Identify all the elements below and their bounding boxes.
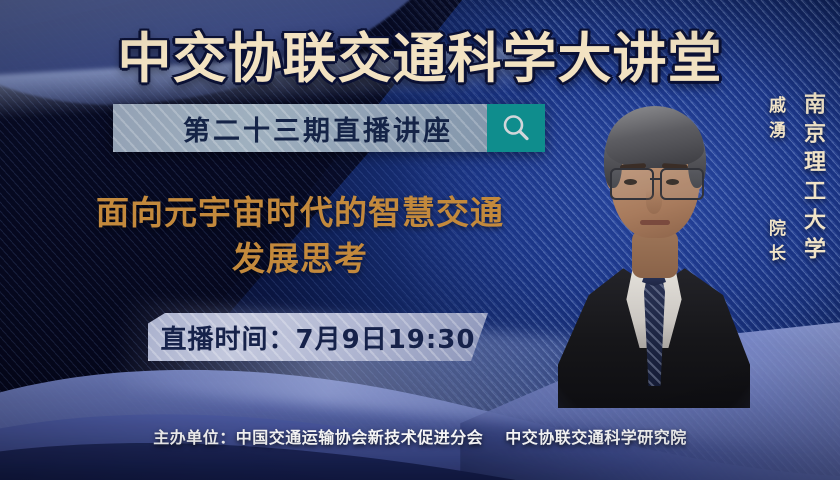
speaker-title: 院长 (765, 219, 785, 269)
main-title: 中交协联交通科学大讲堂 (0, 14, 840, 93)
footer-organizer-1: 中国交通运输协会新技术促进分会 (236, 428, 484, 447)
speaker-organization: 南京理工大学 (796, 92, 828, 266)
portrait-nose (646, 190, 662, 214)
session-banner: 第二十三期直播讲座 (113, 104, 545, 152)
portrait-mouth (640, 220, 670, 225)
search-icon-container[interactable] (487, 104, 545, 152)
speaker-name: 戚湧 (765, 96, 785, 146)
portrait-glasses-bridge (650, 178, 660, 180)
broadcast-time-text: 直播时间：7月9日19:30 (161, 319, 476, 356)
lecture-title: 面向元宇宙时代的智慧交通 发展思考 (40, 190, 560, 281)
live-stream-poster: 中交协联交通科学大讲堂 第二十三期直播讲座 面向元宇宙时代的智慧交通 发展思考 … (0, 0, 840, 480)
session-label: 第二十三期直播讲座 (147, 109, 453, 148)
footer-label: 主办单位： (153, 428, 236, 447)
footer-organizers: 主办单位：中国交通运输协会新技术促进分会中交协联交通科学研究院 (0, 424, 840, 448)
search-icon (500, 112, 532, 144)
broadcast-time-badge: 直播时间：7月9日19:30 (148, 313, 488, 361)
footer-organizer-2: 中交协联交通科学研究院 (505, 428, 687, 447)
lecture-title-line-1: 面向元宇宙时代的智慧交通 (40, 190, 560, 236)
speaker-identity: 戚湧 院长 (763, 96, 788, 269)
portrait-figure (556, 78, 752, 408)
lecture-title-line-2: 发展思考 (40, 236, 560, 282)
speaker-portrait (556, 78, 752, 408)
portrait-lens-right (660, 168, 704, 200)
session-banner-body: 第二十三期直播讲座 (113, 104, 487, 152)
portrait-hair (606, 106, 704, 168)
